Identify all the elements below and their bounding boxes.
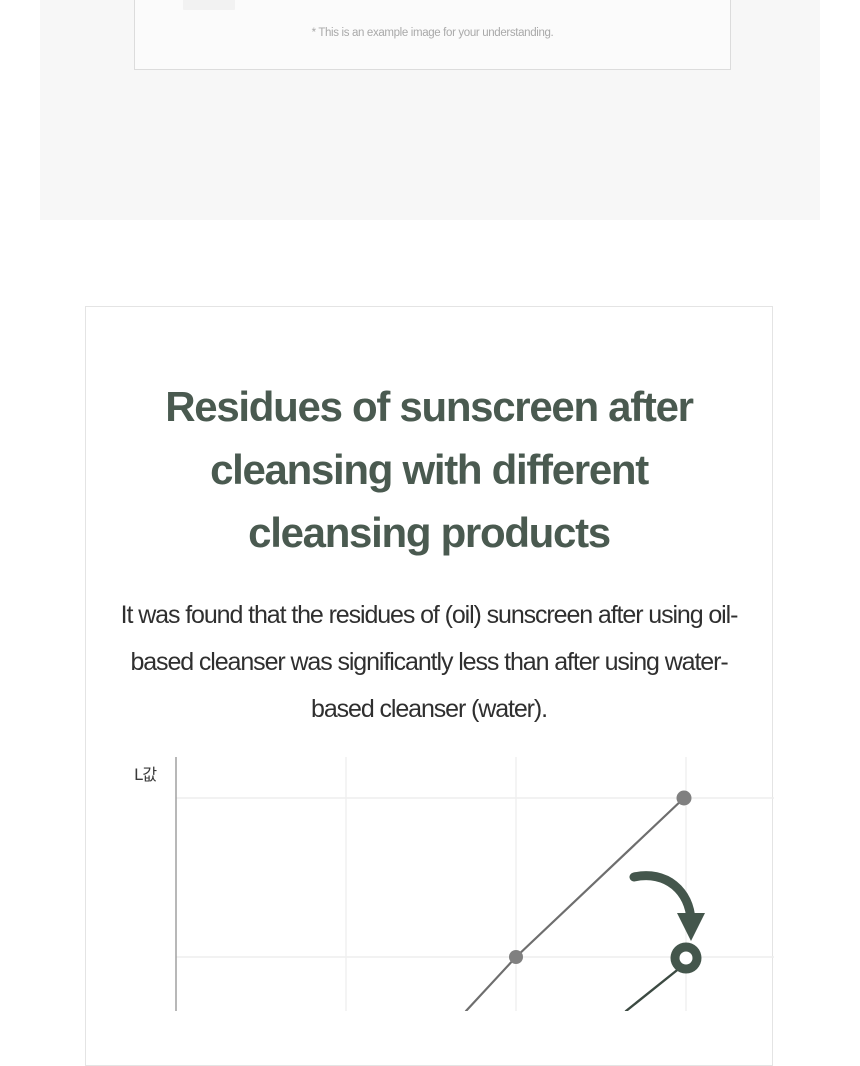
residue-line-chart: L값 [86, 751, 772, 1011]
example-image-card: * This is an example image for your unde… [134, 0, 731, 70]
page-title: Residues of sunscreen after cleansing wi… [86, 307, 772, 564]
vertical-gridlines [346, 757, 686, 1011]
horizontal-gridlines [176, 798, 774, 957]
data-point-oil [671, 943, 702, 974]
body-paragraph: It was found that the residues of (oil) … [86, 564, 772, 733]
example-image-panel: * This is an example image for your unde… [40, 0, 820, 220]
series-line-water [466, 798, 684, 1011]
example-image-note: * This is an example image for your unde… [135, 27, 730, 39]
data-point-water-high [677, 791, 692, 806]
placeholder-block [183, 0, 235, 10]
data-point-water-mid [509, 950, 523, 964]
callout-arrow-icon [634, 876, 705, 941]
chart-canvas [86, 751, 774, 1011]
info-card: Residues of sunscreen after cleansing wi… [85, 306, 773, 1066]
